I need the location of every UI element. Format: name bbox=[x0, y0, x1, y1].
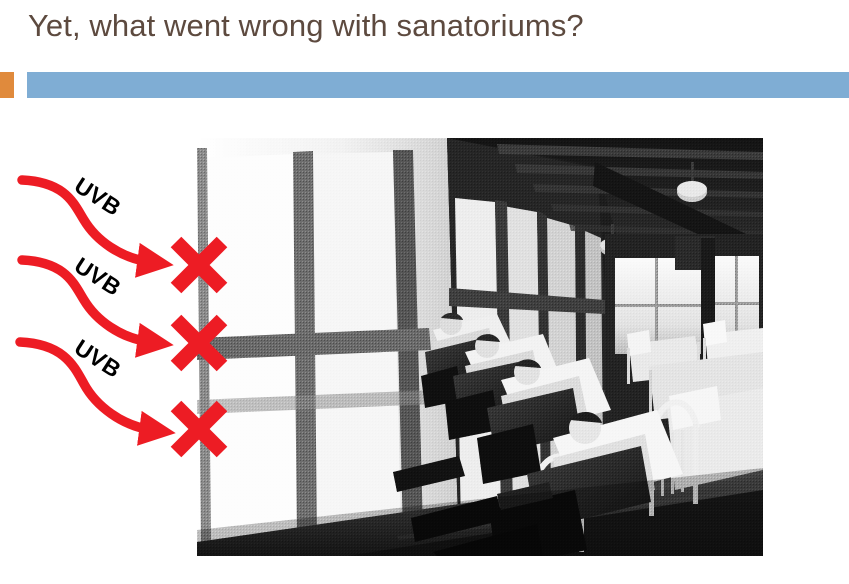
title-accent-square bbox=[0, 72, 14, 98]
page-title: Yet, what went wrong with sanatoriums? bbox=[28, 4, 818, 52]
sanatorium-ward-illustration bbox=[197, 138, 763, 556]
uvb-cross-3 bbox=[176, 406, 222, 452]
title-rule-bar bbox=[27, 72, 849, 98]
uvb-cross-1 bbox=[176, 242, 222, 288]
sanatorium-ward-photo bbox=[197, 138, 763, 556]
slide: Yet, what went wrong with sanatoriums? bbox=[0, 0, 849, 584]
uvb-cross-2 bbox=[176, 320, 222, 366]
